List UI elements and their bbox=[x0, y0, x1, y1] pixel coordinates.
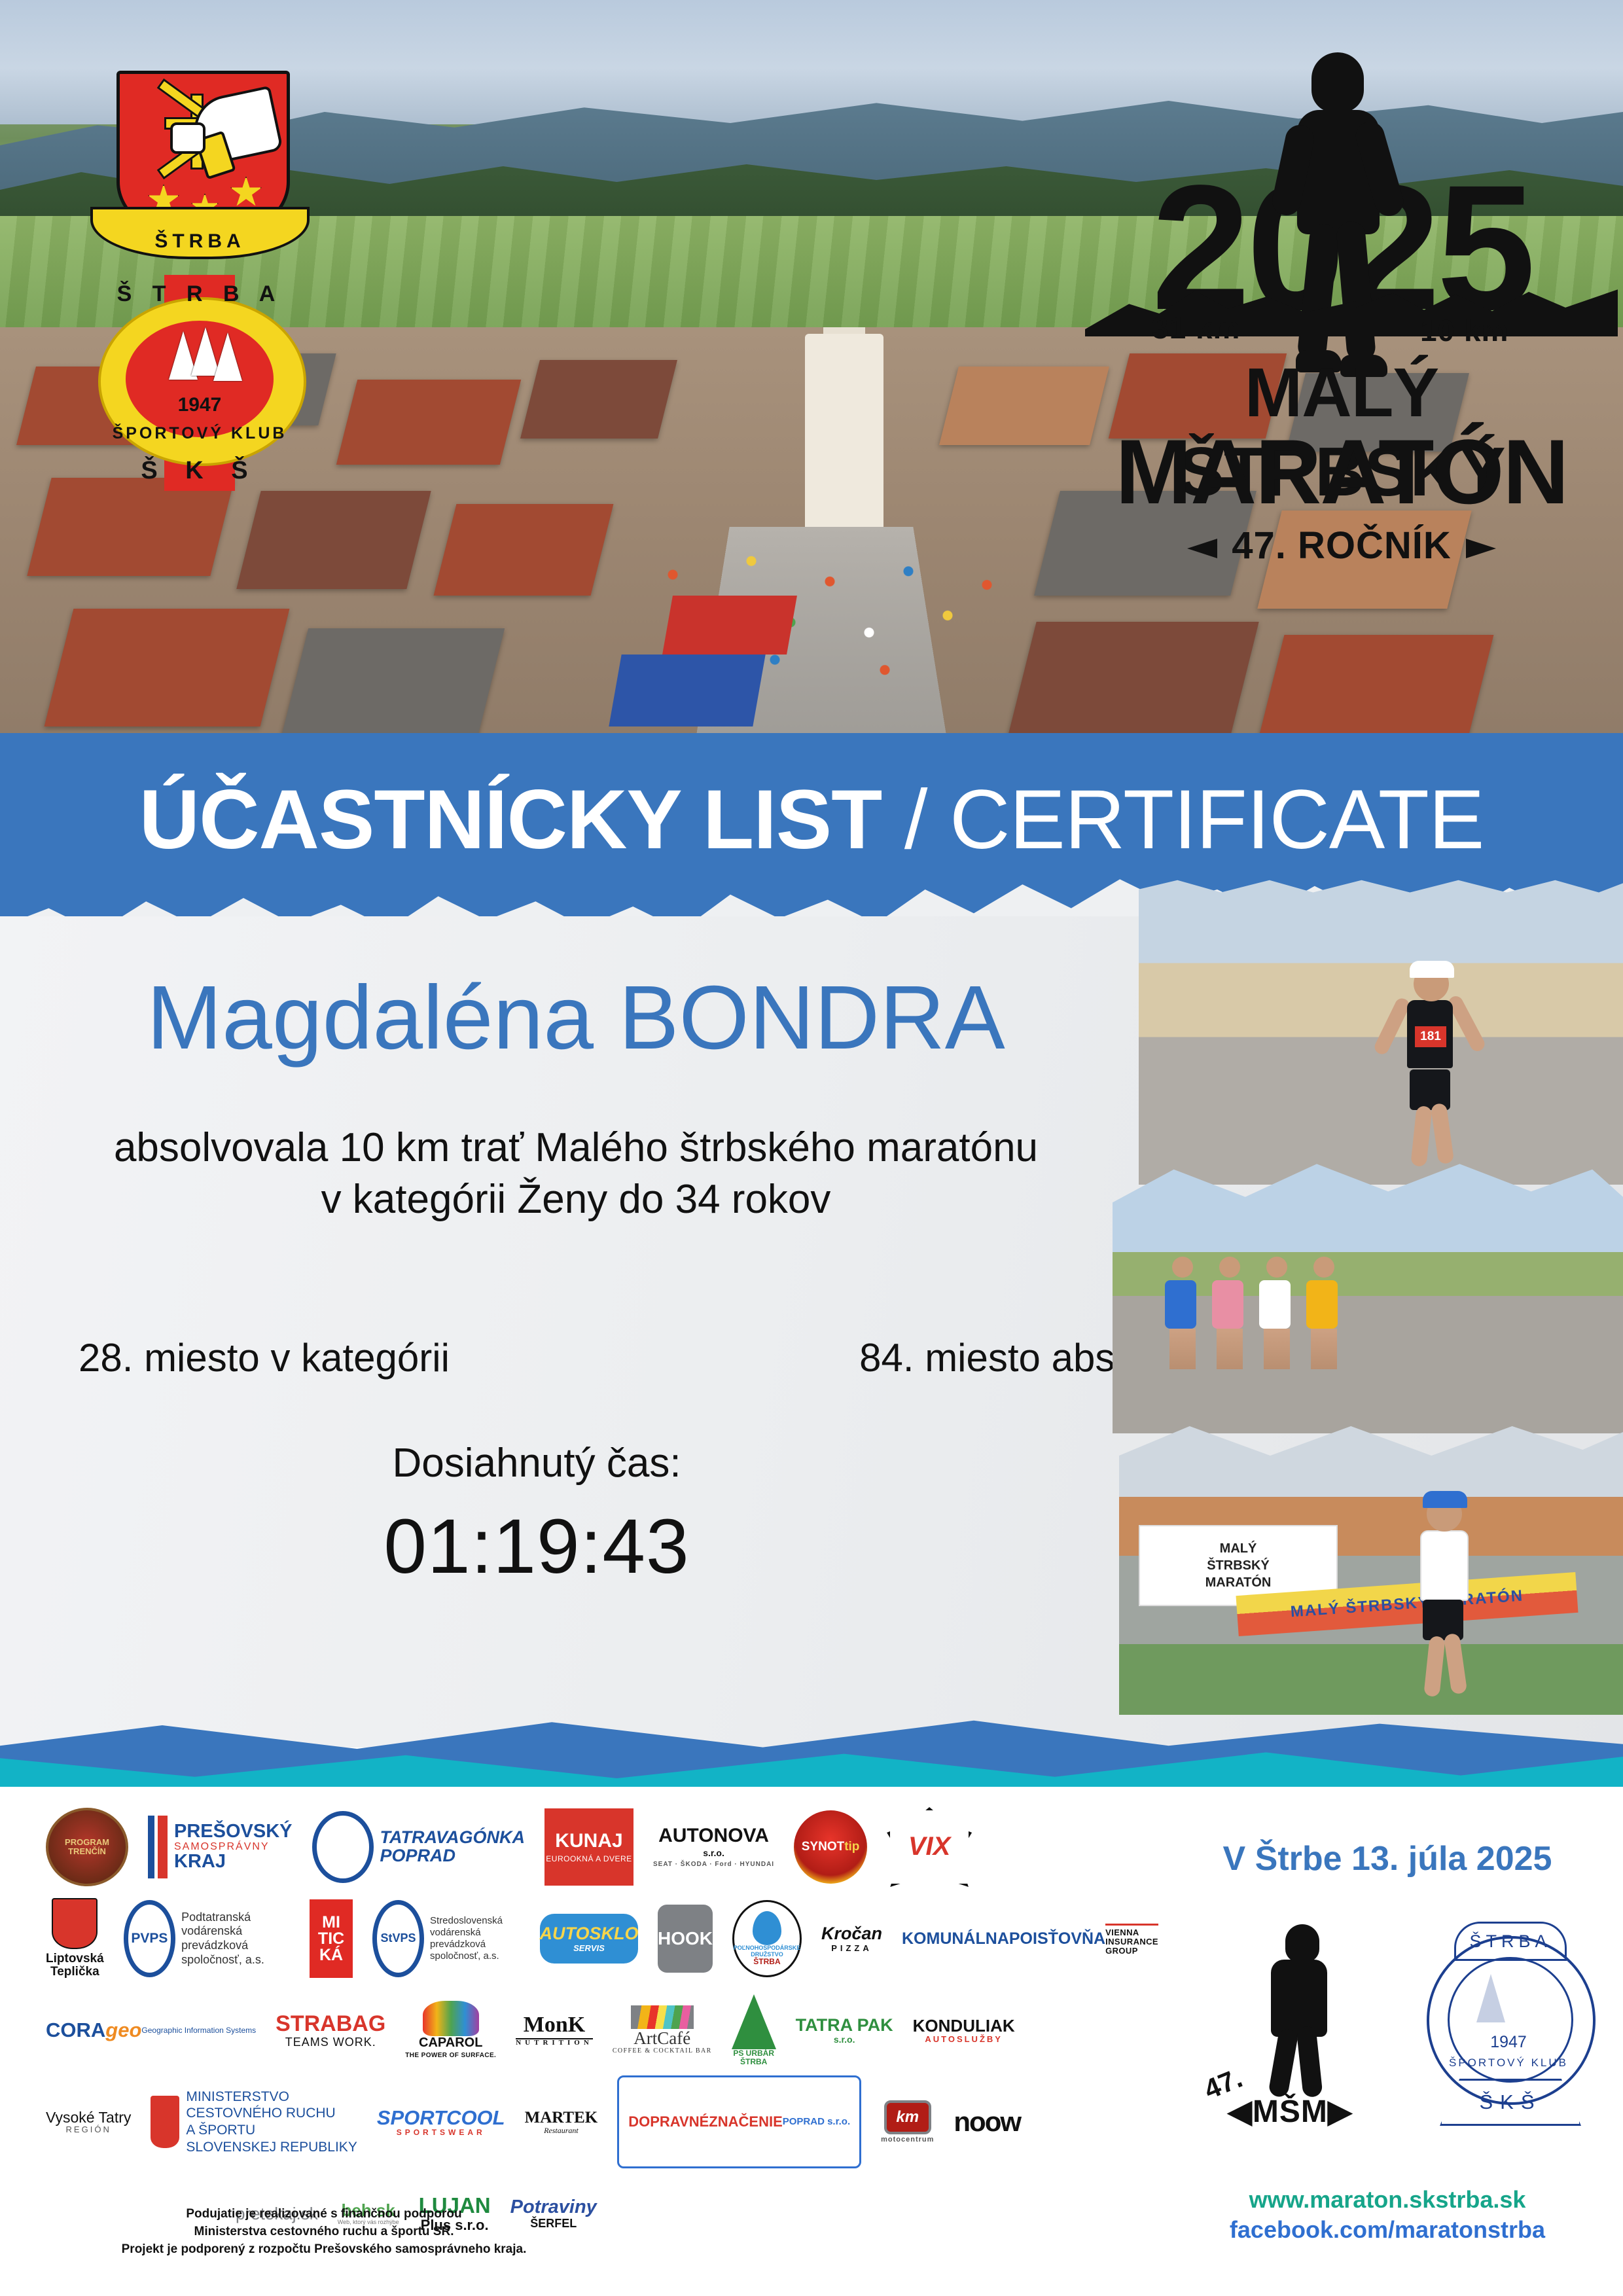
logo-line: POISŤOVŇA bbox=[1009, 1930, 1105, 1948]
event-logo: 2025 31 km 10 km MALÝ ŠTRBSKÝ MARATÓN 47… bbox=[1073, 26, 1610, 615]
sponsor-vysoke-tatry: Vysoké Tatry REGIÓN bbox=[46, 2081, 131, 2162]
logo-line: SYNOT bbox=[802, 1840, 844, 1854]
church-steeple bbox=[823, 327, 865, 334]
contact-links: www.maraton.skstrba.sk facebook.com/mara… bbox=[1165, 2185, 1610, 2245]
logo-line: AUTONOVA bbox=[658, 1825, 769, 1846]
sponsor-km-motocentrum: km motocentrum bbox=[881, 2081, 934, 2162]
sponsor-tatrapak: TATRA PAK s.r.o. bbox=[796, 1990, 893, 2071]
photo-runners-group bbox=[1113, 1158, 1623, 1433]
logo-line: MARTEK bbox=[525, 2109, 598, 2126]
sponsor-corageo: CORAgeo Geographic Information Systems bbox=[46, 1990, 256, 2071]
roof bbox=[434, 504, 614, 596]
sponsor-noow: noow bbox=[954, 2081, 1020, 2162]
roof bbox=[520, 360, 677, 439]
sponsor-row-1: PROGRAM TRENČÍN PREŠOVSKÝ SAMOSPRÁVNY KR… bbox=[46, 1806, 1158, 1888]
place-absolute: 84. miesto abs. bbox=[859, 1335, 1126, 1380]
sponsor-pvps: PVPS Podtatranská vodárenská prevádzková… bbox=[124, 1898, 291, 1979]
logo-line: NUTRITION bbox=[516, 2038, 593, 2047]
finish-banner-line2: ŠTRBSKÝ bbox=[1207, 1557, 1270, 1574]
flag-icon bbox=[148, 1816, 168, 1878]
logo-line: MI bbox=[322, 1914, 340, 1931]
logo-line: A ŠPORTU bbox=[186, 2122, 357, 2139]
sponsor-ps-urbar-strba: PS URBÁR ŠTRBA bbox=[732, 1990, 776, 2071]
title-bold: ÚČASTNÍCKY LIST bbox=[139, 773, 882, 867]
club-initials: Š K Š bbox=[98, 457, 301, 485]
roof bbox=[236, 491, 431, 589]
photo-collage: 181 MALÝ ŠTRBSKÝ MARATÓN MALÝ ŠTRBSKÝ MA… bbox=[1113, 877, 1623, 1715]
star-icon bbox=[230, 176, 262, 209]
logo-line: KUNAJ bbox=[555, 1831, 622, 1852]
logo-line: HOOK bbox=[658, 1929, 713, 1948]
sponsor-konduliak: KONDULIAK AUTOSLUŽBY bbox=[913, 1990, 1015, 2071]
logo-line: ArtCafé bbox=[633, 2029, 690, 2048]
certificate-description: absolvovala 10 km trať Malého štrbského … bbox=[0, 1122, 1152, 1226]
sks-club-logo: Š T R B A 1947 ŠPORTOVÝ KLUB Š K Š bbox=[98, 275, 301, 491]
logo-line: geo bbox=[105, 2018, 141, 2041]
water-drop-icon bbox=[753, 1911, 781, 1945]
sponsor-sportcool: SPORTCOOL SPORTSWEAR bbox=[377, 2081, 505, 2162]
logo-line: KÁ bbox=[319, 1947, 343, 1964]
disclaimer-line2: Ministerstva cestovného ruchu a športu S… bbox=[52, 2223, 596, 2241]
logo-line: ŠTRBA bbox=[753, 1958, 780, 1966]
club-year: 1947 bbox=[98, 394, 301, 416]
fist-icon bbox=[170, 122, 205, 154]
photo-finisher: 181 bbox=[1139, 877, 1623, 1185]
logo-line: MonK bbox=[524, 2013, 585, 2037]
tree-icon bbox=[732, 1994, 776, 2049]
logo-line: TRENČÍN bbox=[68, 1847, 106, 1856]
finish-banner-line3: MARATÓN bbox=[1205, 1574, 1272, 1591]
logo-line: PROGRAM bbox=[65, 1838, 109, 1847]
title-thin: / CERTIFICATE bbox=[882, 773, 1484, 867]
sponsor-caparol: CAPAROL THE POWER OF SURFACE. bbox=[405, 1990, 496, 2071]
logo-line: EUROOKNÁ A DVERE bbox=[546, 1855, 632, 1863]
church bbox=[805, 334, 883, 550]
logo-line: tip bbox=[844, 1840, 859, 1854]
logo-line: Restaurant bbox=[544, 2126, 579, 2135]
certificate-text-block: Magdaléna BONDRA absolvovala 10 km trať … bbox=[0, 969, 1152, 1226]
disclaimer-line1: Podujatie je realizované s finančnou pod… bbox=[52, 2206, 596, 2223]
logo-line: ŠTRBA bbox=[740, 2058, 767, 2066]
sponsor-row-3: CORAgeo Geographic Information Systems S… bbox=[46, 1990, 1158, 2071]
logo-line: COFFEE & COCKTAIL BAR bbox=[613, 2048, 712, 2055]
coat-name: ŠTRBA bbox=[154, 230, 245, 253]
logo-line: AUTOSKLO bbox=[539, 1924, 638, 1943]
logo-line: Liptovská bbox=[46, 1952, 104, 1966]
logo-line: VIENNA INSURANCE GROUP bbox=[1105, 1924, 1158, 1955]
finish-banner-line1: MALÝ bbox=[1220, 1540, 1257, 1557]
logo-line: CAPAROL bbox=[419, 2036, 482, 2051]
placements: 28. miesto v kategórii 84. miesto abs. bbox=[79, 1335, 1126, 1380]
sponsor-ministerstvo: MINISTERSTVO CESTOVNÉHO RUCHU A ŠPORTU S… bbox=[151, 2081, 357, 2162]
sponsor-kunaj: KUNAJ EUROOKNÁ A DVERE bbox=[544, 1808, 633, 1886]
logo-line: Teplička bbox=[50, 1965, 99, 1979]
logo-line: POĽNOHOSPODÁRSKE DRUŽSTVO bbox=[734, 1945, 801, 1958]
stamp-mountain-icon bbox=[1476, 1974, 1505, 2022]
sponsor-dopravne-znacenie: DOPRAVNÉ ZNAČENIE POPRAD s.r.o. bbox=[617, 2075, 861, 2168]
sponsor-krocan-pizza: Kročan PIZZA bbox=[821, 1898, 882, 1979]
logo-line: TEAMS WORK. bbox=[285, 2036, 376, 2049]
stamp-year: 1947 bbox=[1414, 2033, 1603, 2052]
logo-line: ZNAČENIE bbox=[709, 2114, 782, 2129]
logo-line: PIZZA bbox=[831, 1944, 872, 1953]
logo-line: PVPS bbox=[131, 1931, 168, 1946]
facebook-link[interactable]: facebook.com/maratonstrba bbox=[1165, 2215, 1610, 2245]
elephant-icon bbox=[423, 2001, 479, 2036]
sponsor-martek: MARTEK Restaurant bbox=[525, 2081, 598, 2162]
photo-finish-line: MALÝ ŠTRBSKÝ MARATÓN MALÝ ŠTRBSKÝ MARATÓ… bbox=[1119, 1420, 1623, 1715]
logo-line: Podtatranská vodárenská bbox=[181, 1910, 290, 1939]
coat-ribbon: ŠTRBA bbox=[90, 207, 310, 259]
logo-line: THE POWER OF SURFACE. bbox=[405, 2053, 496, 2060]
sponsor-presovsky-kraj: PREŠOVSKÝ SAMOSPRÁVNY KRAJ bbox=[148, 1806, 293, 1888]
funding-disclaimer: Podujatie je realizované s finančnou pod… bbox=[52, 2206, 596, 2259]
website-link[interactable]: www.maraton.skstrba.sk bbox=[1165, 2185, 1610, 2215]
logo-line: CORA bbox=[46, 2018, 105, 2041]
sponsor-autosklo: AUTOSKLO SERVIS bbox=[540, 1914, 638, 1964]
logo-line: REGIÓN bbox=[66, 2125, 111, 2134]
logo-line: Vysoké Tatry bbox=[46, 2109, 131, 2126]
logo-line: SPORTCOOL bbox=[377, 2107, 505, 2128]
logo-line: SPORTSWEAR bbox=[397, 2128, 486, 2137]
msm-logo: 47. ◀MŠM▶ bbox=[1204, 1918, 1400, 2134]
logo-line: DOPRAVNÉ bbox=[628, 2114, 709, 2129]
logo-line: PREŠOVSKÝ bbox=[174, 1822, 293, 1842]
logo-line: CESTOVNÉHO RUCHU bbox=[186, 2105, 357, 2122]
sponsor-monk-nutrition: MonK NUTRITION bbox=[516, 1990, 593, 2071]
roof bbox=[1005, 622, 1258, 746]
bars-icon bbox=[631, 2005, 694, 2029]
logo-line: s.r.o. bbox=[834, 2035, 855, 2045]
finisher-figure: 181 bbox=[1381, 949, 1479, 1165]
sponsor-stvps: StVPS Stredoslovenská vodárenská prevádz… bbox=[372, 1898, 520, 1979]
sponsor-pd-strba: POĽNOHOSPODÁRSKE DRUŽSTVO ŠTRBA bbox=[732, 1900, 802, 1977]
description-line2: v kategórii Ženy do 34 rokov bbox=[321, 1177, 831, 1222]
logo-line: KONDULIAK bbox=[913, 2017, 1015, 2035]
logo-line: SERVIS bbox=[573, 1944, 605, 1953]
logo-line: Geographic Information Systems bbox=[141, 2026, 256, 2035]
club-top-text: Š T R B A bbox=[98, 281, 301, 307]
logo-line: AUTOSLUŽBY bbox=[925, 2035, 1003, 2044]
sponsor-synottip: SYNOTtip bbox=[794, 1810, 867, 1884]
logo-line: STRABAG bbox=[276, 2012, 385, 2036]
distance-10km: 10 km bbox=[1420, 313, 1508, 348]
logo-line: s.r.o. bbox=[703, 1848, 724, 1858]
msm-runner-icon bbox=[1257, 1924, 1342, 2088]
sponsor-liptovska-teplicka: Liptovská Teplička bbox=[46, 1898, 104, 1979]
oval-icon bbox=[312, 1811, 374, 1883]
event-edition: 47. ROČNÍK bbox=[1073, 524, 1610, 567]
certificate-page: ŠTART ŠTRBA bbox=[0, 0, 1623, 2296]
km-badge-icon: km bbox=[884, 2100, 931, 2134]
logo-line: POPRAD s.r.o. bbox=[783, 2117, 850, 2127]
participant-name: Magdaléna BONDRA bbox=[0, 969, 1152, 1068]
logo-line: prevádzková spoločnosť, a.s. bbox=[430, 1939, 520, 1962]
bib-number: 181 bbox=[1415, 1026, 1446, 1047]
disclaimer-line3: Projekt je podporený z rozpočtu Prešovsk… bbox=[52, 2241, 596, 2259]
logo-line: noow bbox=[954, 2107, 1020, 2136]
logo-line: VIX bbox=[908, 1833, 950, 1861]
logo-line: Stredoslovenská vodárenská bbox=[430, 1915, 520, 1939]
sponsor-vix: VIX bbox=[887, 1807, 972, 1887]
sponsor-grid: PROGRAM TRENČÍN PREŠOVSKÝ SAMOSPRÁVNY KR… bbox=[46, 1806, 1158, 2265]
tent bbox=[662, 596, 797, 655]
runner-group bbox=[1165, 1257, 1342, 1369]
time-value: 01:19:43 bbox=[0, 1502, 1073, 1591]
logo-line: motocentrum bbox=[881, 2136, 934, 2144]
stvps-oval-icon: StVPS bbox=[372, 1900, 424, 1977]
sponsor-hook: HOOK bbox=[658, 1905, 713, 1973]
roof bbox=[336, 380, 521, 465]
distance-31km: 31 km bbox=[1152, 310, 1240, 346]
hero-photo-village: ŠTART ŠTRBA bbox=[0, 0, 1623, 772]
roof bbox=[27, 478, 234, 576]
msm-tag: ◀MŠM▶ bbox=[1228, 2093, 1353, 2130]
stamp-top-text: ŠTRBA bbox=[1454, 1922, 1567, 1961]
sponsor-autonova: AUTONOVA s.r.o. SEAT · ŠKODA · Ford · HY… bbox=[653, 1806, 774, 1888]
sponsor-artcafe: ArtCafé COFFEE & COCKTAIL BAR bbox=[613, 1990, 712, 2071]
sponsor-komunalna-poistovna: KOMUNÁLNA POISŤOVŇA VIENNA INSURANCE GRO… bbox=[902, 1898, 1158, 1979]
sponsor-row-2: Liptovská Teplička PVPS Podtatranská vod… bbox=[46, 1898, 1158, 1979]
mountain-icon bbox=[213, 332, 242, 381]
logo-line: MINISTERSTVO bbox=[186, 2089, 357, 2106]
logo-line: TATRA PAK bbox=[796, 2016, 893, 2035]
roof bbox=[45, 609, 290, 726]
event-edition-text: 47. ROČNÍK bbox=[1232, 524, 1452, 567]
logo-line: TATRAVAGÓNKA bbox=[380, 1829, 525, 1847]
time-label: Dosiahnutý čas: bbox=[0, 1440, 1073, 1486]
strba-coat-of-arms: ŠTRBA bbox=[116, 71, 283, 267]
logo-line: StVPS bbox=[380, 1932, 416, 1945]
logo-line: POPRAD bbox=[380, 1847, 525, 1865]
sponsor-program-trencin: PROGRAM TRENČÍN bbox=[46, 1808, 128, 1886]
sponsor-miticka: MI TIC KÁ bbox=[310, 1899, 353, 1978]
sponsor-tatravagonka: TATRAVAGÓNKA POPRAD bbox=[312, 1806, 525, 1888]
logo-line: KOMUNÁLNA bbox=[902, 1930, 1009, 1948]
roof bbox=[281, 628, 505, 740]
place-category: 28. miesto v kategórii bbox=[79, 1335, 450, 1380]
stamp-bottom-text: ŠKŠ bbox=[1440, 2079, 1581, 2126]
issue-date: V Štrbe 13. júla 2025 bbox=[1171, 1839, 1603, 1878]
winner-figure bbox=[1394, 1479, 1492, 1695]
sponsor-row-4: Vysoké Tatry REGIÓN MINISTERSTVO CESTOVN… bbox=[46, 2081, 1158, 2162]
description-line1: absolvovala 10 km trať Malého štrbského … bbox=[114, 1125, 1038, 1170]
page-title: ÚČASTNÍCKY LIST / CERTIFICATE bbox=[139, 772, 1484, 868]
finish-time-block: Dosiahnutý čas: 01:19:43 bbox=[0, 1440, 1073, 1591]
shield-icon bbox=[52, 1898, 98, 1949]
slovakia-emblem-icon bbox=[151, 2096, 179, 2148]
logo-line: TIC bbox=[318, 1931, 344, 1947]
club-arc-text: ŠPORTOVÝ KLUB bbox=[98, 424, 301, 443]
logo-line: KRAJ bbox=[174, 1852, 293, 1872]
stamp-arc-text: ŠPORTOVÝ KLUB bbox=[1414, 2056, 1603, 2070]
logo-line: SEAT · ŠKODA · Ford · HYUNDAI bbox=[653, 1861, 774, 1869]
logo-line: SLOVENSKEJ REPUBLIKY bbox=[186, 2139, 357, 2156]
tent bbox=[609, 655, 765, 726]
logo-line: km bbox=[896, 2109, 919, 2126]
sks-stamp: ŠTRBA 1947 ŠPORTOVÝ KLUB ŠKŠ bbox=[1414, 1918, 1603, 2134]
event-title-line2: MARATÓN bbox=[1073, 419, 1610, 525]
logo-line: prevádzková spoločnosť, a.s. bbox=[181, 1939, 290, 1967]
pvps-oval-icon: PVPS bbox=[124, 1900, 175, 1977]
logo-line: Kročan bbox=[821, 1924, 882, 1943]
sponsor-strabag: STRABAG TEAMS WORK. bbox=[276, 1990, 385, 2071]
